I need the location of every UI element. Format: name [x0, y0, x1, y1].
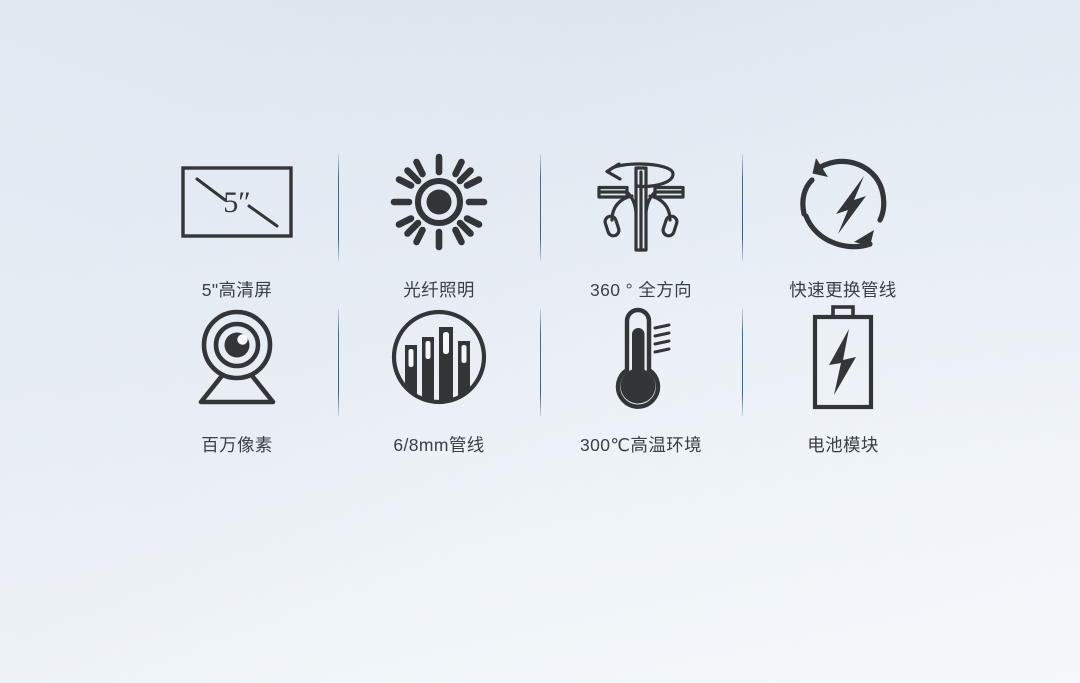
- feature-item-screen-size: 5″ 5"高清屏: [136, 148, 338, 303]
- feature-item-battery: 电池模块: [742, 303, 944, 518]
- feature-label: 快速更换管线: [789, 282, 896, 300]
- high-temperature-thermometer-icon: [599, 303, 683, 411]
- feature-label: 300℃高温环境: [580, 437, 702, 455]
- feature-item-cable-diameter: 6/8mm管线: [338, 303, 540, 518]
- feature-label: 百万像素: [201, 437, 273, 455]
- feature-item-megapixel: 百万像素: [136, 303, 338, 518]
- screen-size-value: 5″: [223, 186, 251, 219]
- feature-label: 5"高清屏: [202, 282, 272, 300]
- quick-swap-cable-icon: [792, 148, 894, 256]
- cable-diameter-icon: [389, 303, 489, 411]
- megapixel-camera-icon: [187, 303, 287, 411]
- feature-label: 光纤照明: [403, 282, 475, 300]
- feature-label: 6/8mm管线: [393, 437, 484, 455]
- feature-item-quick-swap: 快速更换管线: [742, 148, 944, 303]
- feature-item-fiber-light: 光纤照明: [338, 148, 540, 303]
- fiber-light-sun-icon: [391, 148, 487, 256]
- screen-size-icon: 5″: [181, 148, 293, 256]
- battery-module-icon: [808, 303, 878, 411]
- feature-label: 电池模块: [807, 437, 879, 455]
- feature-item-omnidirectional: 360 ° 全方向: [540, 148, 742, 303]
- feature-grid: 5″ 5"高清屏: [0, 0, 1080, 683]
- feature-item-high-temperature: 300℃高温环境: [540, 303, 742, 518]
- omnidirectional-rotation-icon: [587, 148, 695, 256]
- feature-label: 360 ° 全方向: [590, 282, 692, 300]
